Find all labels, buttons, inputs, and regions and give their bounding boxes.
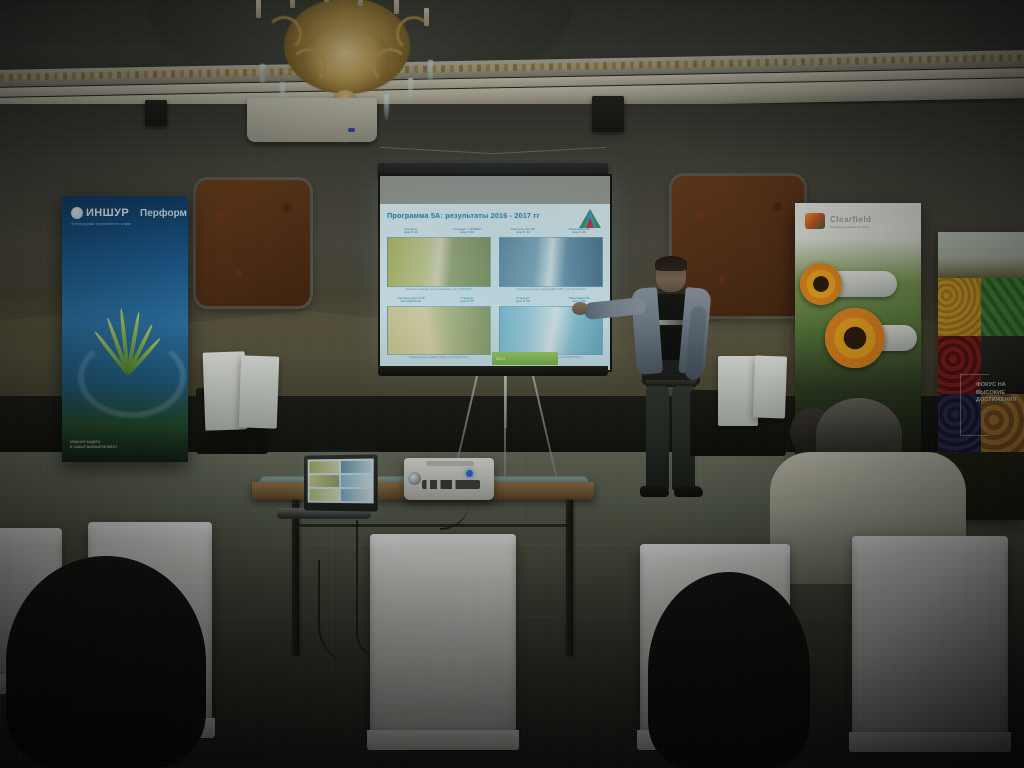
projector-top-panel (426, 461, 474, 466)
banner-left-footer: МОЩНАЯ ЗАЩИТА В САМЫЙ ВАЖНЫЙ МОМЕНТ (70, 440, 117, 450)
chandelier-candle (256, 0, 261, 18)
banner-inshur-perform: ИНШУР Перформ Фунгицидный протравитель с… (62, 196, 188, 462)
tripod-post (504, 368, 507, 428)
table-brace (296, 524, 568, 527)
chandelier-arm (266, 16, 302, 52)
laptop-thumb (310, 475, 340, 487)
chandelier-candle (424, 8, 429, 26)
banner-left-brand: ИНШУР (86, 207, 129, 219)
laptop-thumb (341, 475, 372, 488)
presenter-hair (655, 256, 687, 271)
slide-title: Программа 5А: результаты 2016 - 2017 гг (387, 211, 537, 220)
laptop-screen[interactable] (308, 458, 374, 503)
cell-footer: Подсолнечник, гибрид Тунка, учёт 04.07.2… (387, 355, 491, 360)
banner-right-subtitle: Производственная система (830, 225, 868, 229)
slide-cell: Контроль фон N 45 без обработки Стандарт… (387, 297, 491, 361)
basf-circle-logo-icon (71, 207, 83, 219)
screen-hanging-wire (380, 150, 606, 164)
field-photo (499, 237, 603, 287)
cell-caption-right: Стандарт фон N 45 (443, 297, 491, 306)
ac-indicator-led (348, 128, 355, 132)
chandelier-crystal (260, 64, 265, 90)
projection-screen: Программа 5А: результаты 2016 - 2017 гг … (378, 174, 612, 372)
chandelier-crystal (408, 78, 413, 104)
screen-blank-area (380, 176, 610, 204)
chandelier-arm (290, 48, 326, 84)
field-photo (387, 237, 491, 287)
screen-bottom-bar (378, 366, 608, 376)
projector-power-led (466, 470, 473, 477)
slide-photo-grid: Контроль фон N 60 Стандарт + ИНШУР фон N… (387, 228, 603, 360)
presenter-leg-left (646, 386, 669, 490)
projector-ports (422, 480, 480, 489)
chair-cover (852, 536, 1008, 736)
presenter-shoe-right (674, 486, 703, 497)
chandelier-crystal (428, 60, 433, 86)
chair-cloth (239, 355, 279, 428)
clearfield-logo-icon (805, 213, 825, 229)
water-splash-graphic (78, 336, 186, 418)
air-conditioner (247, 98, 377, 142)
banner-right-brand: Clearfield (830, 215, 871, 224)
wall-speaker-right (592, 96, 624, 132)
slide-cell: Контроль фон N 60 Стандарт + ИНШУР фон N… (387, 228, 491, 292)
chandelier-candle (394, 0, 399, 14)
banner-far-headline: ФОКУС НА ВЫСОКИЕ ДОСТИЖЕНИЯ (976, 382, 1024, 405)
slide-cell: Контроль без ЗР фон N 30 Программа 5А фо… (499, 228, 603, 292)
slide-footer-text: БАСФ (496, 357, 505, 361)
cell-caption-left: Контроль без ЗР фон N 30 (499, 228, 547, 237)
chair-cloth (753, 355, 787, 418)
chandelier-candle (290, 0, 295, 8)
field-photo (387, 306, 491, 356)
chandelier-crystal (384, 94, 389, 120)
crop-tile-corn (938, 278, 981, 336)
conference-room-photo: ИНШУР Перформ Фунгицидный протравитель с… (0, 0, 1024, 768)
audience-head-foreground-center (648, 572, 810, 768)
projector[interactable] (404, 458, 494, 500)
projector-lens (408, 472, 421, 485)
cell-caption-left: Стандарт фон N 60 (499, 297, 547, 306)
wall-decor-panel-left (196, 180, 310, 306)
presenter-shoe-left (640, 486, 669, 497)
audience-head-foreground-left (6, 556, 206, 768)
chair-cover (370, 534, 516, 734)
sunflower-graphic (825, 308, 885, 368)
cell-caption-left: Контроль фон N 60 (387, 228, 435, 237)
crop-tile-peas (981, 278, 1024, 336)
chandelier-arm (372, 48, 408, 84)
projected-slide: Программа 5А: результаты 2016 - 2017 гг … (380, 204, 610, 370)
cell-footer: Кукуруза на зерно, гибрид ДКС 3795, учёт… (499, 287, 603, 292)
chandelier-candle (358, 0, 363, 6)
laptop-thumb (341, 461, 372, 474)
slide-footer-bar: БАСФ (492, 352, 558, 365)
cell-caption-left: Контроль фон N 45 без обработки (387, 297, 435, 306)
banner-left-brand-second: Перформ (140, 208, 187, 219)
wall-speaker-left (145, 100, 167, 126)
banner-left-subtitle: Фунгицидный протравитель семян (71, 222, 131, 226)
cell-footer: Озимая пшеница, сорт Антоновка, учёт 15.… (387, 287, 491, 292)
laptop-thumb (310, 489, 340, 501)
cell-caption-right: Стандарт + ИНШУР фон N 60 (443, 228, 491, 237)
laptop-thumb (310, 461, 340, 474)
chandelier-candle (324, 0, 329, 2)
laptop-lid[interactable] (304, 454, 378, 511)
sunflower-graphic (800, 263, 842, 305)
laptop-thumb (341, 489, 372, 502)
cell-caption-right: Программа 5А фон N 30 (555, 228, 603, 237)
